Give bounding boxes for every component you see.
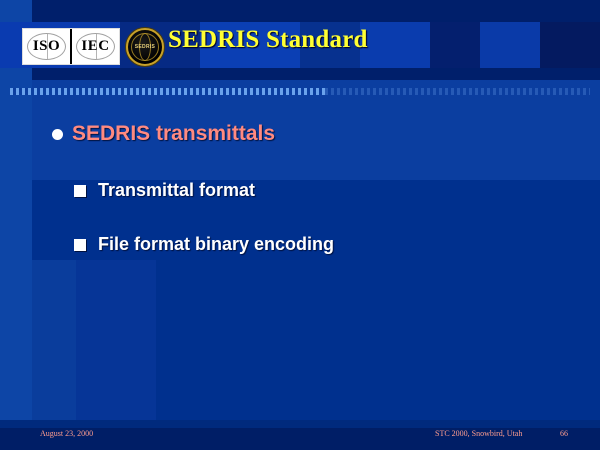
globe-icon: [76, 33, 115, 60]
globe-icon: [27, 33, 66, 60]
bullet-circle-icon: [52, 129, 63, 140]
background-column-soft: [76, 260, 156, 430]
bullet-label: Transmittal format: [98, 180, 255, 201]
sedris-globe-label: SEDRIS: [135, 44, 155, 50]
bullet-square-icon: [74, 239, 86, 251]
footer-date: August 23, 2000: [40, 429, 93, 438]
sedris-globe-logo: SEDRIS: [126, 28, 164, 66]
page-title: SEDRIS Standard: [168, 26, 368, 54]
bullet-level2-transmittal-format: Transmittal format: [74, 180, 255, 201]
background-column-left-secondary: [32, 260, 76, 430]
divider-rule-secondary: [325, 88, 590, 95]
slide: ISO IEC SEDRIS SEDRIS Standard SEDRIS tr…: [0, 0, 600, 450]
footer-page-number: 66: [560, 429, 568, 438]
bullet-level2-file-format-binary-encoding: File format binary encoding: [74, 234, 334, 255]
bullet-label: File format binary encoding: [98, 234, 334, 255]
iso-iec-logo: ISO IEC: [22, 28, 120, 65]
bullet-label: SEDRIS transmittals: [72, 122, 275, 146]
iso-logo: ISO: [23, 29, 70, 64]
bullet-level1-transmittals: SEDRIS transmittals: [52, 122, 275, 146]
bullet-square-icon: [74, 185, 86, 197]
background-bottom-strip: [0, 420, 600, 428]
iec-logo: IEC: [70, 29, 119, 64]
footer-event: STC 2000, Snowbird, Utah: [435, 429, 522, 438]
divider-rule-primary: [10, 88, 325, 95]
